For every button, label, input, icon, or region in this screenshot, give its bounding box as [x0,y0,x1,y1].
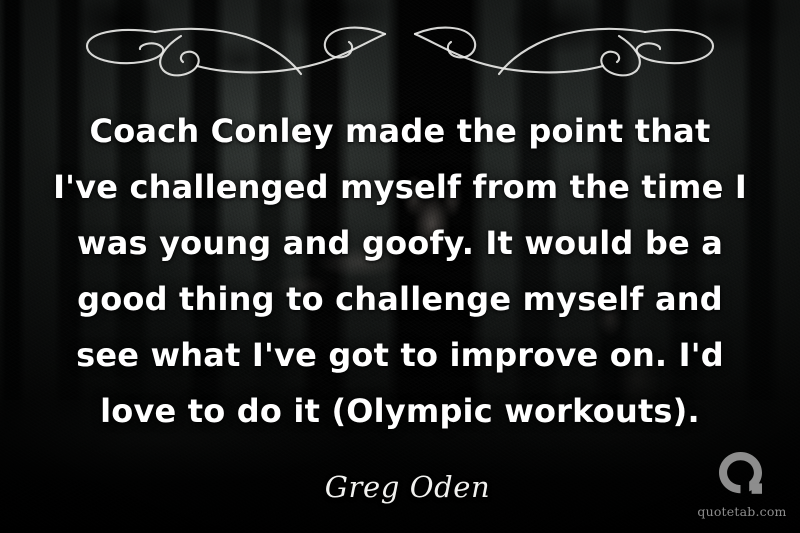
branding[interactable]: quotetab.com [692,450,792,519]
flourish-divider-icon [85,12,715,80]
quotetab-q-logo-icon[interactable] [714,450,770,502]
quote-line: I've challenged myself from the time I [40,159,760,215]
quote-text: Coach Conley made the point that I've ch… [40,103,760,439]
quote-line: Coach Conley made the point that [40,103,760,159]
brand-site-text[interactable]: quotetab.com [692,504,792,519]
quote-image-card: Coach Conley made the point that I've ch… [0,0,800,533]
quote-line: good thing to challenge myself and [40,271,760,327]
quote-line: was young and goofy. It would be a [40,215,760,271]
quote-line: love to do it (Olympic workouts). [40,383,760,439]
quote-line: see what I've got to improve on. I'd [40,327,760,383]
quote-author: Greg Oden [0,470,800,504]
